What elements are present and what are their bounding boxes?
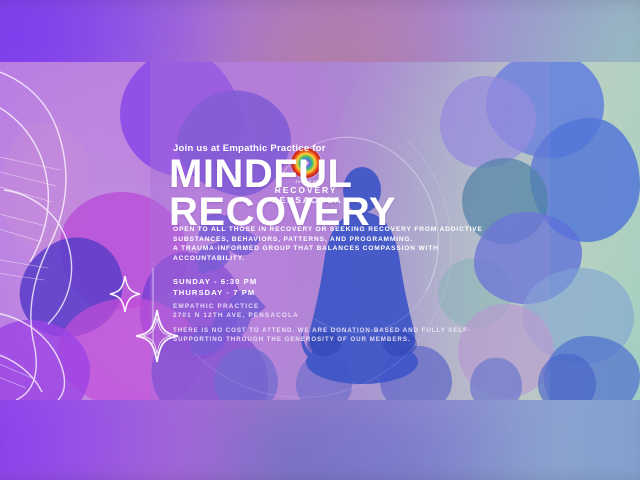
footnote-line-1: THERE IS NO COST TO ATTEND. WE ARE DONAT…: [173, 326, 493, 335]
cost-footnote: THERE IS NO COST TO ATTEND. WE ARE DONAT…: [173, 326, 493, 345]
body-description: OPEN TO ALL THOSE IN RECOVERY OR SEEKING…: [173, 225, 499, 263]
venue-name: EMPATHIC PRACTICE: [173, 302, 299, 312]
flyer-artwork-band: The Art of RECOVERY PENSACOLA Join us at…: [0, 62, 640, 400]
schedule-thursday: THURSDAY - 7 PM: [173, 287, 299, 298]
schedule-sunday: SUNDAY - 6:30 PM: [173, 276, 299, 287]
body-line-3: A TRAUMA-INFORMED GROUP THAT BALANCES CO…: [173, 244, 499, 263]
title-line-1: MINDFUL: [169, 154, 352, 194]
footnote-line-2: SUPPORTING THROUGH THE GENEROSITY OF OUR…: [173, 335, 493, 344]
venue-address: 2701 N 12TH AVE, PENSACOLA: [173, 311, 299, 321]
schedule-block: SUNDAY - 6:30 PM THURSDAY - 7 PM EMPATHI…: [173, 276, 299, 321]
body-line-1: OPEN TO ALL THOSE IN RECOVERY OR SEEKING…: [173, 225, 499, 235]
venue-block: EMPATHIC PRACTICE 2701 N 12TH AVE, PENSA…: [173, 302, 299, 321]
flyer-image: The Art of RECOVERY PENSACOLA Join us at…: [0, 0, 640, 480]
body-line-2: SUBSTANCES, BEHAVIORS, PATTERNS, AND PRO…: [173, 235, 499, 245]
